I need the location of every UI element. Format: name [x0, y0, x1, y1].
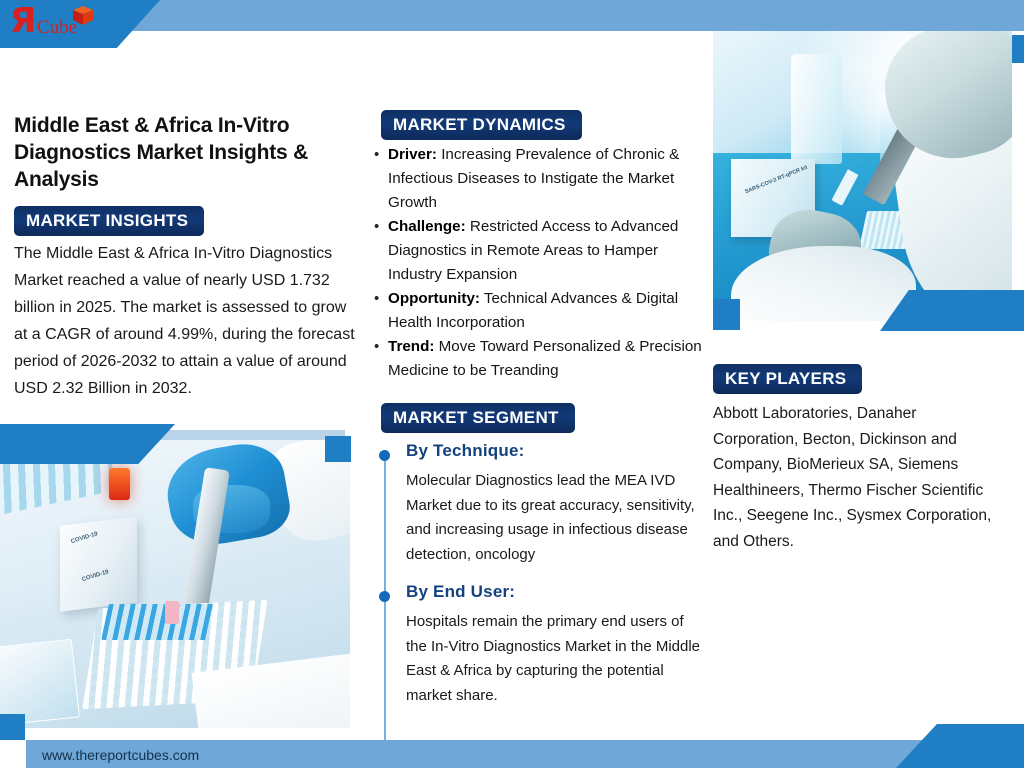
dynamics-label: Driver: [388, 146, 437, 163]
list-item: • Trend: Move Toward Personalized & Prec… [374, 335, 702, 383]
market-insights-body: The Middle East & Africa In-Vitro Diagno… [14, 240, 364, 402]
badge-market-insights: MARKET INSIGHTS [14, 206, 204, 236]
lab-photo-top-right: SARS-COV-2 RT-qPCR kit [713, 31, 1012, 321]
segment-body: Molecular Diagnostics lead the MEA IVD M… [406, 469, 704, 567]
key-players-body: Abbott Laboratories, Danaher Corporation… [713, 401, 993, 554]
bullet-icon: • [374, 335, 388, 383]
list-item: By Technique: Molecular Diagnostics lead… [374, 440, 704, 567]
dynamics-text: Opportunity: Technical Advances & Digita… [388, 287, 702, 335]
bullet-icon: • [374, 143, 388, 215]
page-title: Middle East & Africa In-Vitro Diagnostic… [14, 112, 364, 193]
dynamics-text: Driver: Increasing Prevalence of Chronic… [388, 143, 702, 215]
bullet-icon: • [374, 215, 388, 287]
photo-notch-square [713, 299, 740, 330]
dynamics-label: Opportunity: [388, 290, 480, 307]
list-item: • Driver: Increasing Prevalence of Chron… [374, 143, 702, 215]
market-dynamics-list: • Driver: Increasing Prevalence of Chron… [374, 143, 702, 383]
list-item: • Challenge: Restricted Access to Advanc… [374, 215, 702, 287]
cube-icon [72, 5, 94, 27]
logo-letter: Я [10, 4, 35, 38]
timeline-dot-icon [379, 591, 390, 602]
photo-strip-accent [150, 430, 345, 440]
badge-market-dynamics: MARKET DYNAMICS [381, 110, 582, 140]
dynamics-text: Trend: Move Toward Personalized & Precis… [388, 335, 702, 383]
timeline-dot-icon [379, 450, 390, 461]
bullet-icon: • [374, 287, 388, 335]
segment-heading: By Technique: [406, 440, 704, 462]
corner-square-bottom-left [0, 714, 25, 740]
dynamics-text: Challenge: Restricted Access to Advanced… [388, 215, 702, 287]
dynamics-label: Challenge: [388, 218, 466, 235]
list-item: • Opportunity: Technical Advances & Digi… [374, 287, 702, 335]
photo-accent-square [325, 436, 351, 462]
infographic-page: Я Cube SARS-COV-2 RT-qPCR kit Middle E [0, 0, 1024, 768]
market-segment-list: By Technique: Molecular Diagnostics lead… [374, 440, 704, 722]
list-item: By End User: Hospitals remain the primar… [374, 581, 704, 708]
dynamics-label: Trend: [388, 338, 434, 355]
segment-body: Hospitals remain the primary end users o… [406, 610, 704, 708]
footer-website-url[interactable]: www.thereportcubes.com [42, 746, 199, 764]
dynamics-desc: Move Toward Personalized & Precision Med… [388, 338, 702, 379]
badge-key-players: KEY PLAYERS [713, 364, 862, 394]
badge-market-segment: MARKET SEGMENT [381, 403, 575, 433]
brand-logo[interactable]: Я Cube [10, 4, 115, 46]
lab-photo-bottom-left: COVID-19 COVID-19 [0, 432, 350, 728]
segment-heading: By End User: [406, 581, 704, 603]
